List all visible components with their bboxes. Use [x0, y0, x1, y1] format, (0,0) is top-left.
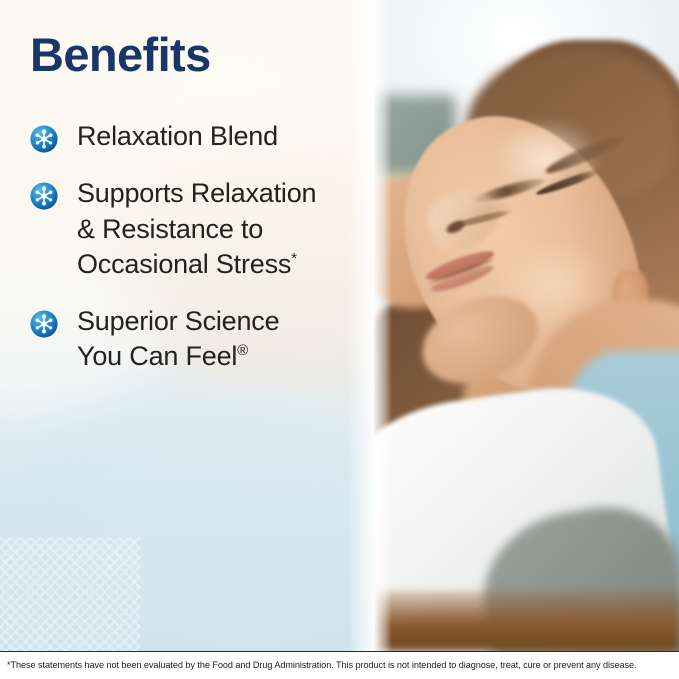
- page-title: Benefits: [30, 30, 374, 79]
- hero-split-area: Benefits: [0, 0, 679, 651]
- right-photo-panel: [374, 0, 679, 651]
- benefit-label: Superior Science You Can Feel®: [77, 304, 279, 374]
- list-item: Relaxation Blend: [30, 119, 374, 154]
- benefit-label: Relaxation Blend: [77, 119, 278, 154]
- right-panel-seam: [374, 0, 392, 651]
- disclaimer-text: *These statements have not been evaluate…: [0, 661, 637, 670]
- benefit-label: Supports Relaxation & Resistance to Occa…: [77, 176, 316, 281]
- molecule-icon: [30, 182, 58, 210]
- disclaimer-bar: *These statements have not been evaluate…: [0, 651, 679, 679]
- registered-mark: ®: [237, 343, 248, 359]
- list-item: Superior Science You Can Feel®: [30, 304, 374, 374]
- molecule-icon: [30, 125, 58, 153]
- molecule-icon: [30, 310, 58, 338]
- benefits-marketing-panel: Benefits: [0, 0, 679, 679]
- relaxing-woman-photo: [374, 0, 679, 651]
- list-item: Supports Relaxation & Resistance to Occa…: [30, 176, 374, 281]
- asterisk-marker: *: [291, 251, 297, 267]
- benefits-list: Relaxation Blend: [30, 119, 374, 374]
- photo-wooden-floor: [374, 591, 679, 651]
- benefits-content: Benefits: [0, 0, 374, 651]
